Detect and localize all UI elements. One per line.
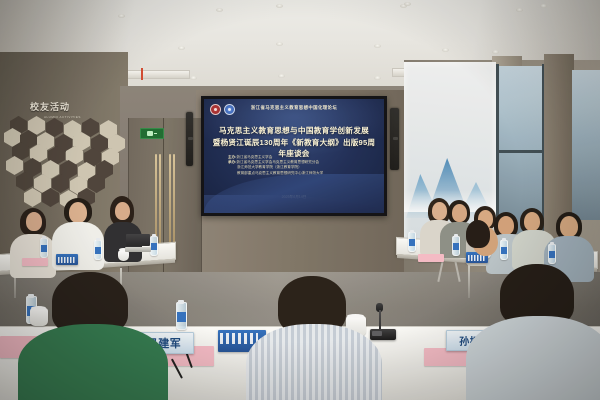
emergency-exit-icon [140, 128, 164, 139]
water-bottle[interactable] [452, 236, 460, 256]
notepad[interactable] [22, 258, 48, 266]
organizer-label: 承办: [228, 160, 236, 165]
conference-microphone[interactable] [370, 300, 400, 340]
hex-wall-subheading: ALUMNI ACTIVITIES [44, 115, 81, 119]
downlight [216, 8, 223, 12]
wall-speaker-icon [390, 108, 399, 170]
wall-speaker-icon [186, 112, 193, 166]
notepad[interactable] [418, 254, 444, 262]
downlight [404, 2, 411, 6]
water-bottle[interactable] [500, 240, 508, 260]
downlight [190, 76, 197, 80]
downlight [540, 4, 547, 8]
slide-organizers: 主办:浙江省马克思主义学会 承办:浙江省马克思主义学会马克思主义教育思想研究分会… [228, 155, 376, 176]
water-bottle[interactable] [176, 302, 187, 330]
downlight [442, 48, 449, 52]
window-mullion [496, 150, 546, 153]
hex-wall-heading: 校友活动 [30, 99, 88, 116]
downlight [374, 44, 381, 48]
downlight [374, 76, 381, 80]
window-glass [572, 70, 600, 220]
tissue-box[interactable] [56, 254, 78, 265]
slide-forum-line: 浙江省马克思主义教育思想中国化理论坛 [204, 105, 384, 111]
teacup[interactable] [30, 308, 48, 326]
slide-title-line-1: 马克思主义教育思想与中国教育学创新发展 [210, 125, 378, 136]
projection-screen: 浙江省马克思主义教育思想中国化理论坛 马克思主义教育思想与中国教育学创新发展 暨… [201, 96, 387, 216]
downlight [516, 8, 523, 12]
downlight [492, 50, 499, 54]
air-vent [122, 70, 190, 79]
conference-room-photo: 校友活动 ALUMNI ACTIVITIES [0, 0, 600, 400]
water-bottle[interactable] [548, 244, 556, 264]
downlight [178, 46, 185, 50]
downlight [276, 42, 283, 46]
water-bottle[interactable] [40, 238, 48, 258]
laptop[interactable] [126, 234, 150, 252]
downlight [276, 4, 283, 8]
water-bottle[interactable] [94, 240, 102, 260]
slide-content: 浙江省马克思主义教育思想中国化理论坛 马克思主义教育思想与中国教育学创新发展 暨… [204, 99, 384, 213]
downlight [118, 14, 125, 18]
water-bottle[interactable] [408, 232, 416, 252]
downlight [278, 74, 285, 78]
water-bottle[interactable] [150, 236, 158, 256]
hex-photo-wall: 校友活动 ALUMNI ACTIVITIES [4, 96, 120, 218]
